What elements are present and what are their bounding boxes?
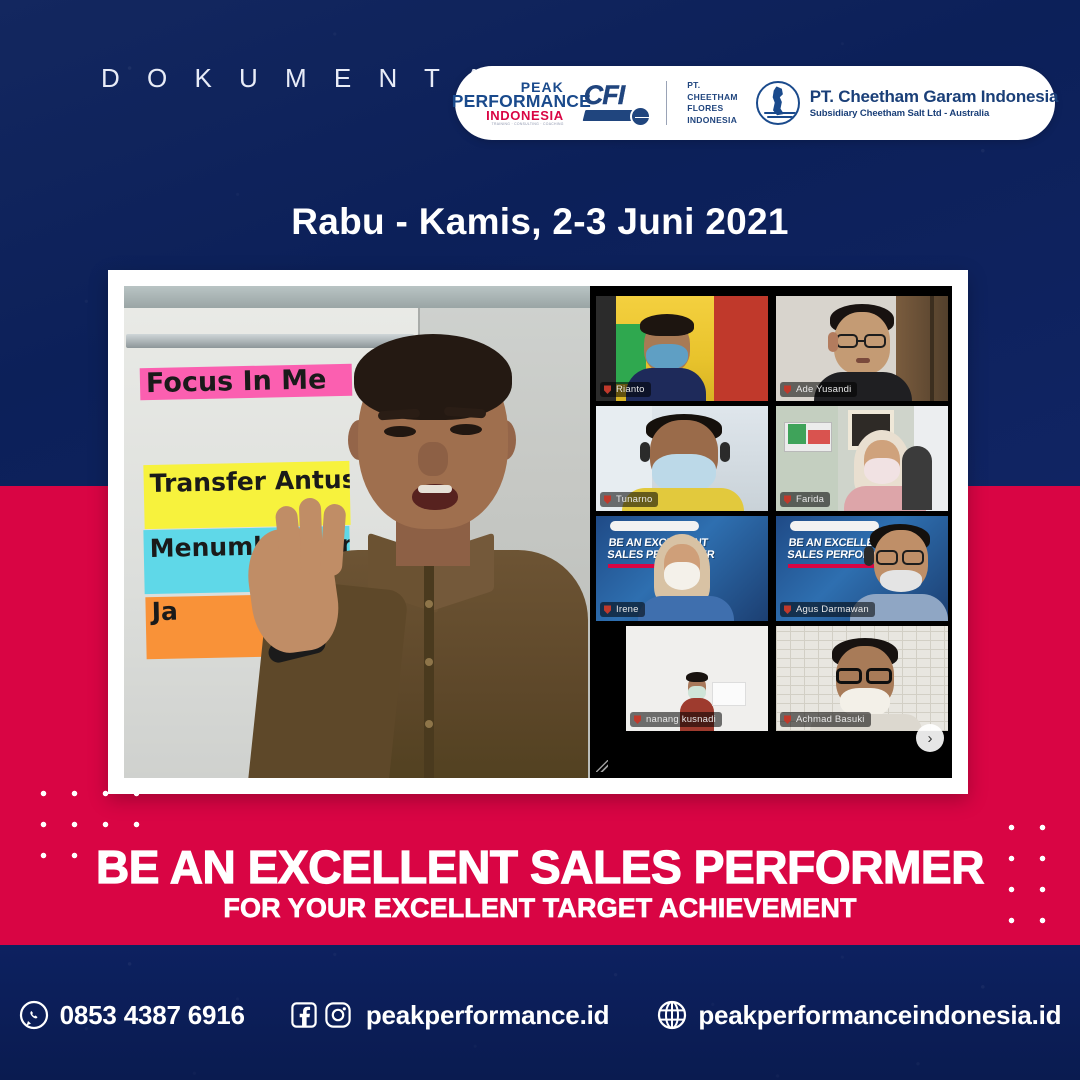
page-title: BE AN EXCELLENT SALES PERFORMER (0, 840, 1080, 894)
event-date: Rabu - Kamis, 2-3 Juni 2021 (0, 201, 1080, 243)
whatsapp-number: 0853 4387 6916 (60, 1000, 245, 1031)
logo-cheetham: PT. Cheetham Garam Indonesia Subsidiary … (738, 81, 1059, 125)
participant-name: Farida (780, 492, 830, 507)
website-url: peakperformanceindonesia.id (698, 1000, 1061, 1031)
participant-name: Rianto (600, 382, 651, 397)
participant-name: nanang kusnadi (630, 712, 722, 727)
social-handle: peakperformance.id (366, 1000, 610, 1031)
participant-gallery: Rianto Ade Yusandi (590, 286, 952, 778)
globe-icon (657, 1000, 687, 1030)
cfi-sub-2: CHEETHAM (687, 92, 738, 104)
footer-contact-bar: 0853 4387 6916 peakperformance.id (0, 986, 1080, 1044)
participant-tile[interactable]: nanang kusnadi (626, 626, 768, 731)
participant-name: Achmad Basuki (780, 712, 871, 727)
participant-tile[interactable]: Ade Yusandi (776, 296, 948, 401)
photo-frame: Focus In Me Transfer Antusiasme Menumbuh… (108, 270, 968, 794)
participant-name: Agus Darmawan (780, 602, 875, 617)
resize-grip[interactable] (596, 760, 608, 772)
cfi-sub-1: PT. (687, 80, 738, 92)
participant-name: Tunarno (600, 492, 658, 507)
sticky-note-4: Ja (145, 595, 266, 659)
pp-tagline: TRAINING · CONSULTING · COACHING (452, 123, 564, 126)
logo-peak-performance: PEAK PERFORMANCE INDONESIA TRAINING · CO… (452, 74, 570, 132)
logo-divider (666, 81, 668, 125)
zoom-meeting-screenshot: Focus In Me Transfer Antusiasme Menumbuh… (124, 286, 952, 778)
participant-name: Ade Yusandi (780, 382, 857, 397)
speaker-video-pane: Focus In Me Transfer Antusiasme Menumbuh… (124, 286, 590, 778)
logo-cfi: CFI PT. CHEETHAM FLORES INDONESIA (570, 80, 738, 126)
footer-social[interactable]: peakperformance.id (291, 1000, 610, 1031)
cheetham-subtitle: Subsidiary Cheetham Salt Ltd - Australia (810, 108, 1059, 119)
next-page-button[interactable]: › (916, 724, 944, 752)
footer-website[interactable]: peakperformanceindonesia.id (657, 1000, 1061, 1031)
participant-tile[interactable]: Tunarno (596, 406, 768, 511)
participant-tile[interactable]: BE AN EXCELLENT SALES PERFORMER Irene (596, 516, 768, 621)
participant-tile[interactable]: Farida (776, 406, 948, 511)
logo-bar: PEAK PERFORMANCE INDONESIA TRAINING · CO… (455, 66, 1055, 140)
speaker-figure (272, 338, 590, 778)
participant-tile[interactable]: BE AN EXCELLENT SALES PERFORMER Agus Dar… (776, 516, 948, 621)
cfi-subtitle: PT. CHEETHAM FLORES INDONESIA (687, 80, 738, 126)
cfi-mark-text: CFI (584, 82, 646, 108)
participant-name: Irene (600, 602, 645, 617)
cfi-sub-4: INDONESIA (687, 115, 738, 127)
cfi-mark: CFI (584, 82, 646, 124)
participant-tile[interactable]: Achmad Basuki (776, 626, 948, 731)
seahorse-icon (756, 81, 800, 125)
pp-line-indonesia: INDONESIA (452, 109, 564, 122)
whatsapp-icon (19, 1000, 49, 1030)
globe-icon (630, 106, 651, 127)
page-subtitle: FOR YOUR EXCELLENT TARGET ACHIEVEMENT (0, 893, 1080, 924)
poster-canvas: D O K U M E N T A S I PEAK PERFORMANCE I… (0, 0, 1080, 1080)
facebook-icon[interactable] (291, 1002, 317, 1028)
instagram-icon[interactable] (325, 1002, 351, 1028)
participant-tile[interactable]: Rianto (596, 296, 768, 401)
footer-whatsapp[interactable]: 0853 4387 6916 (19, 1000, 245, 1031)
cheetham-name: PT. Cheetham Garam Indonesia (810, 87, 1059, 107)
cfi-sub-3: FLORES (687, 103, 738, 115)
